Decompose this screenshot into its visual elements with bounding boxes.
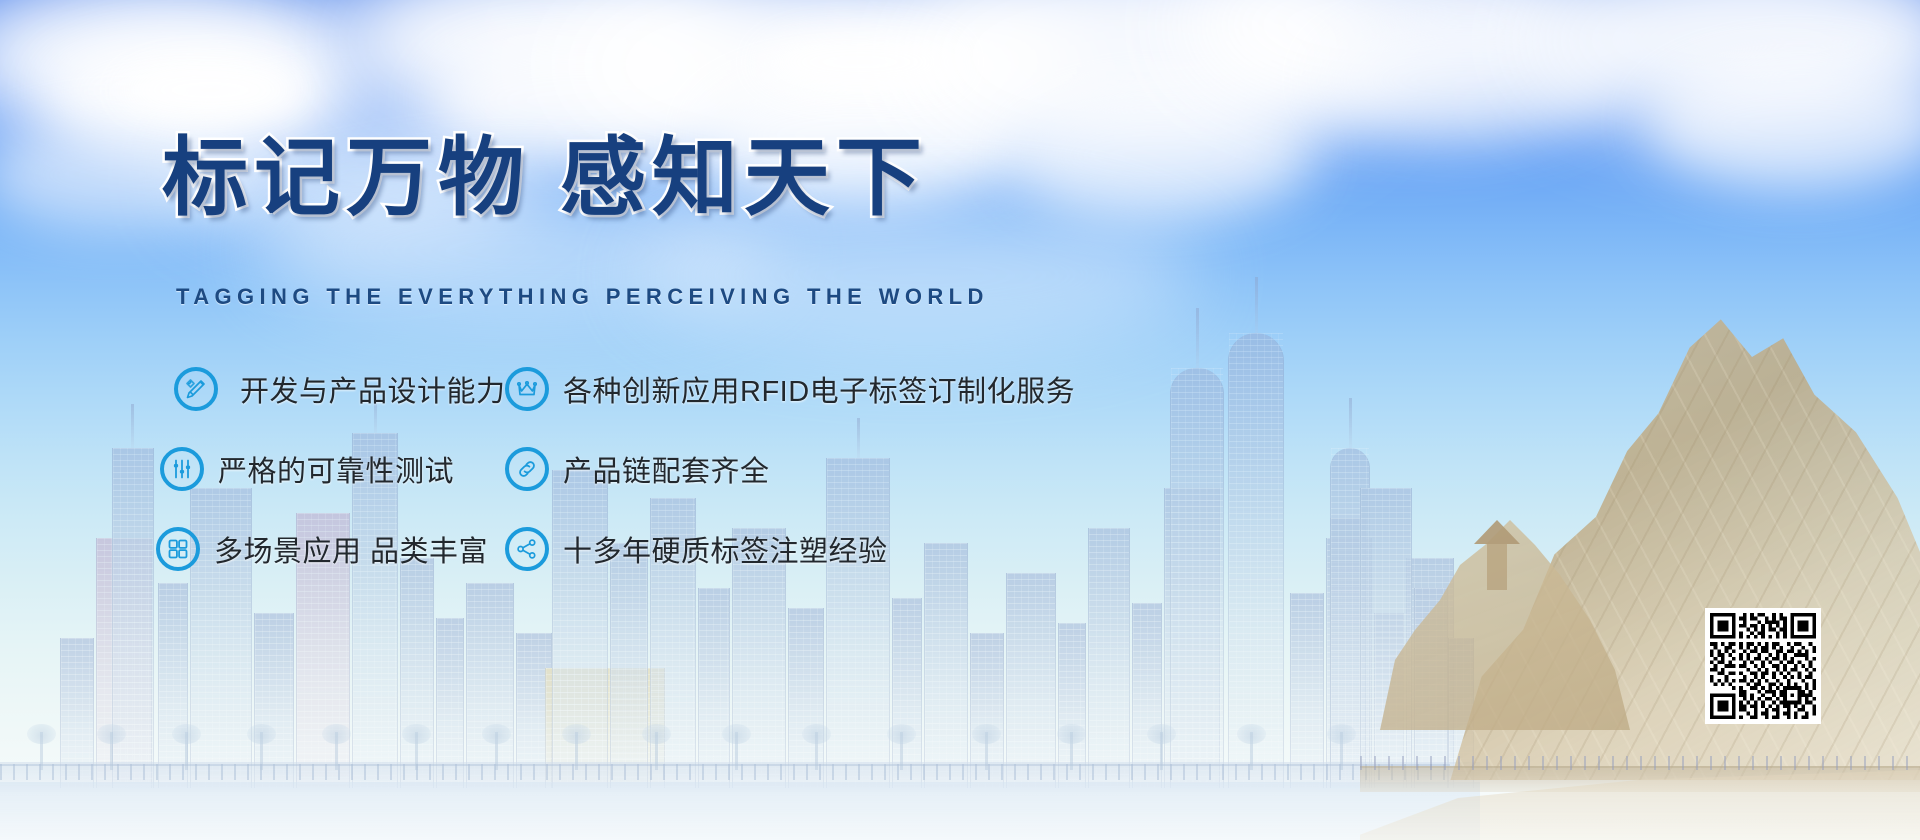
feature-label: 多场景应用 品类丰富 xyxy=(214,528,488,570)
feature-label: 十多年硬质标签注塑经验 xyxy=(563,528,888,570)
feature-item-complete-product-chain: 产品链配套齐全 xyxy=(505,440,1205,498)
coastal-rock-formation xyxy=(1360,280,1920,840)
feature-row: 严格的可靠性测试 产品链配套齐全 xyxy=(160,440,1220,520)
promo-banner: 标记万物 感知天下 TAGGING THE EVERYTHING PERCEIV… xyxy=(0,0,1920,840)
crown-icon xyxy=(505,367,549,411)
feature-label: 产品链配套齐全 xyxy=(563,448,770,490)
feature-label: 开发与产品设计能力 xyxy=(240,368,506,410)
feature-label: 各种创新应用RFID电子标签订制化服务 xyxy=(563,368,1075,410)
feature-label: 严格的可靠性测试 xyxy=(218,448,454,490)
ruler-pencil-icon xyxy=(174,367,218,411)
pagoda-icon xyxy=(1474,520,1520,590)
page-title: 标记万物 感知天下 xyxy=(162,132,928,225)
qr-code[interactable] xyxy=(1705,608,1821,724)
feature-item-reliability-testing: 严格的可靠性测试 xyxy=(160,440,505,498)
share-nodes-icon xyxy=(505,527,549,571)
feature-item-multi-scenario: 多场景应用 品类丰富 xyxy=(156,520,505,578)
feature-row: 开发与产品设计能力 各种创新应用RFID电子标签订制化服务 xyxy=(160,360,1220,440)
feature-item-design-capability: 开发与产品设计能力 xyxy=(174,360,505,418)
grid-squares-icon xyxy=(156,527,200,571)
equalizer-slider-icon xyxy=(160,447,204,491)
feature-item-injection-molding-experience: 十多年硬质标签注塑经验 xyxy=(505,520,1205,578)
feature-item-rfid-customization: 各种创新应用RFID电子标签订制化服务 xyxy=(505,360,1205,418)
feature-list: 开发与产品设计能力 各种创新应用RFID电子标签订制化服务 xyxy=(160,360,1220,600)
page-subtitle: TAGGING THE EVERYTHING PERCEIVING THE WO… xyxy=(176,284,989,310)
qr-code-image xyxy=(1710,613,1816,719)
link-chain-icon xyxy=(505,447,549,491)
feature-row: 多场景应用 品类丰富 十多年硬质标签注塑经验 xyxy=(160,520,1220,600)
